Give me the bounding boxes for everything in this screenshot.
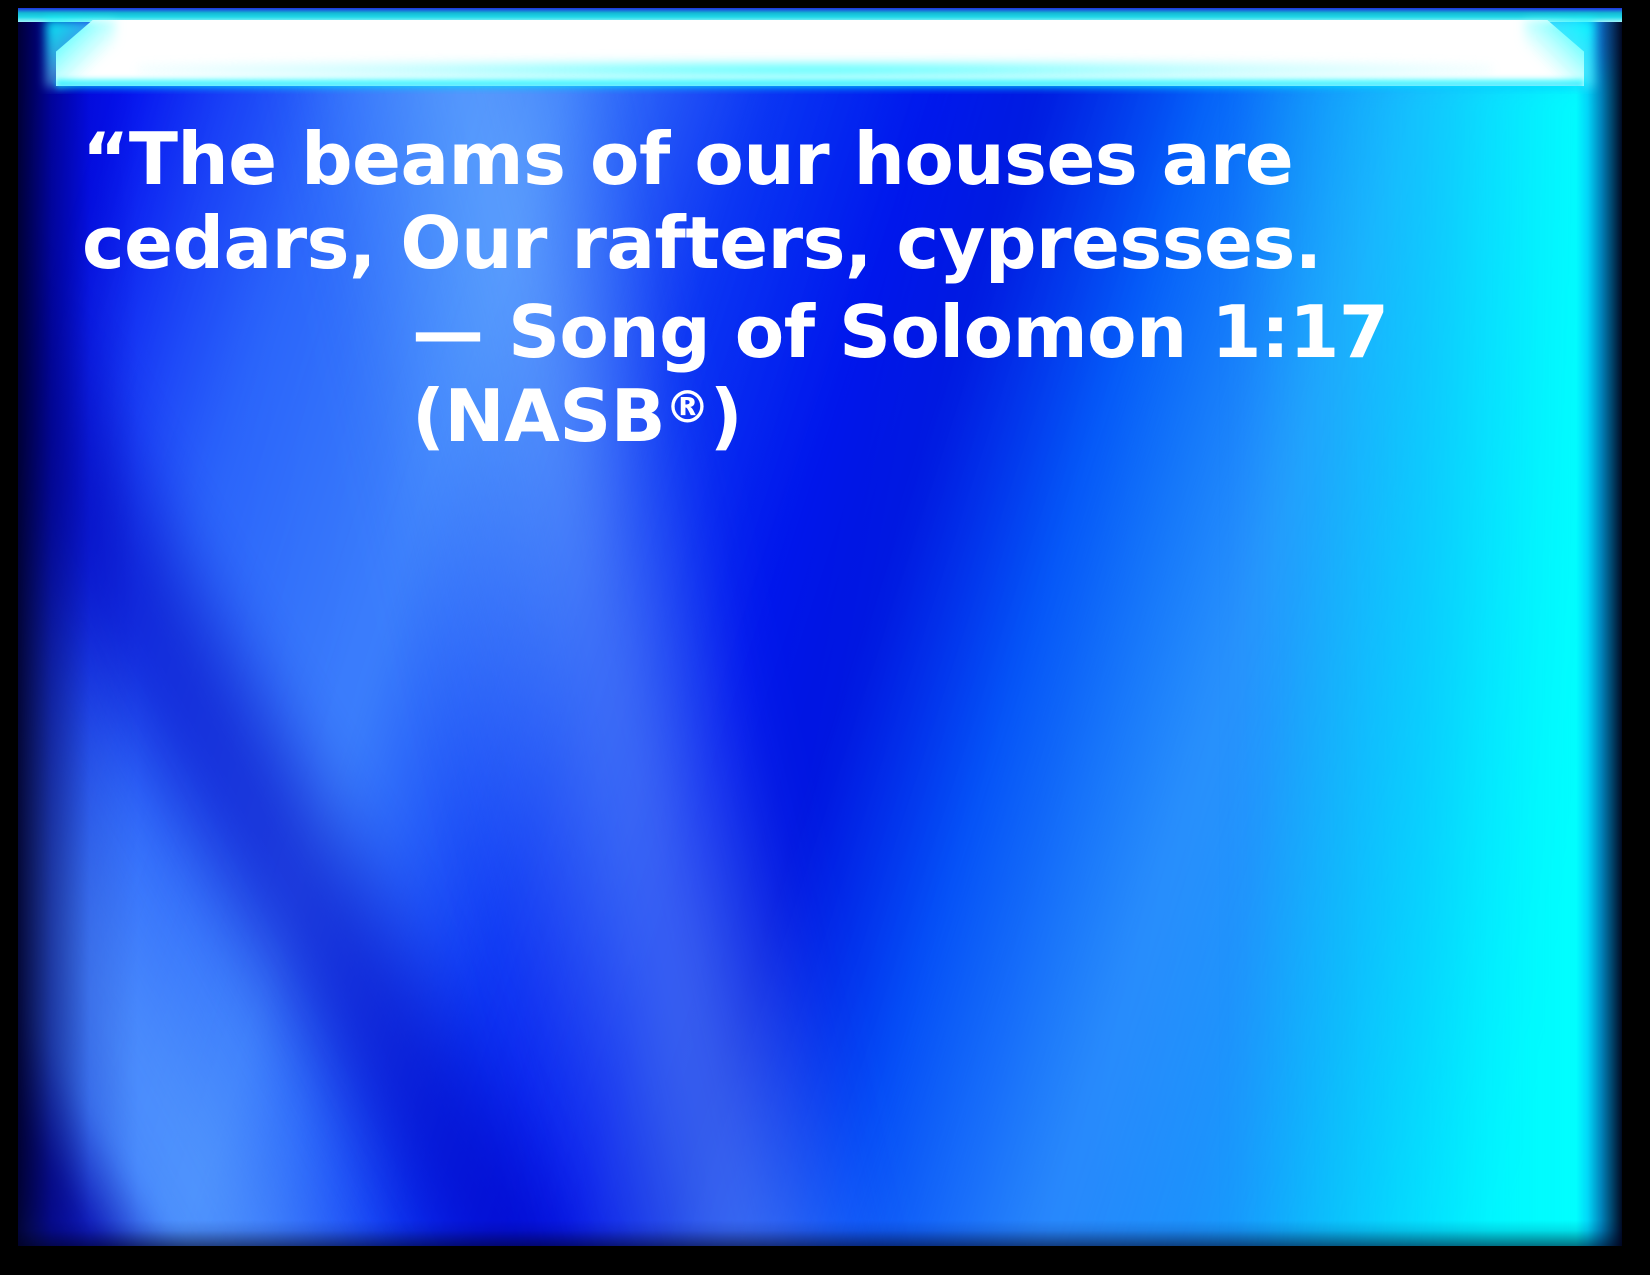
- verse-attribution-suffix: ): [710, 374, 742, 458]
- banner-cyan-edge-left: [46, 20, 116, 88]
- scripture-slide: “The beams of our houses are cedars, Our…: [0, 0, 1650, 1275]
- banner-base-cyan-line: [56, 80, 1584, 92]
- verse-block: “The beams of our houses are cedars, Our…: [82, 118, 1552, 458]
- registered-trademark-icon: ®: [665, 381, 710, 433]
- banner-cyan-edge-right: [1524, 20, 1594, 88]
- verse-attribution-prefix: — Song of Solomon 1:17 (NASB: [412, 290, 1388, 458]
- slide-canvas: “The beams of our houses are cedars, Our…: [18, 8, 1622, 1246]
- banner-inner-glow: [138, 60, 1492, 80]
- banner-teal-line: [18, 8, 1622, 22]
- verse-attribution: — Song of Solomon 1:17 (NASB®): [82, 291, 1552, 458]
- background-bottom-vignette: [18, 1220, 1622, 1246]
- verse-text: “The beams of our houses are cedars, Our…: [82, 118, 1552, 285]
- top-banner: [18, 8, 1622, 94]
- background-right-vignette: [1576, 8, 1622, 1246]
